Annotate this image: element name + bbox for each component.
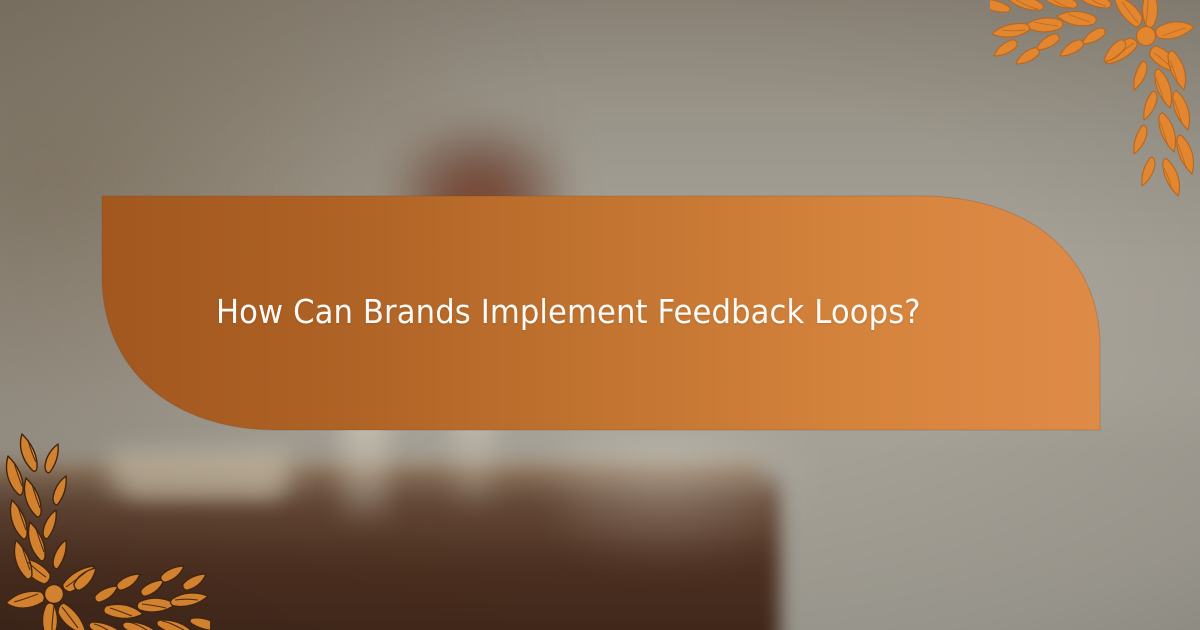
page-title: How Can Brands Implement Feedback Loops? [216,292,960,331]
title-banner: How Can Brands Implement Feedback Loops? [102,196,1100,430]
damask-corner-top-right-icon [990,0,1200,200]
damask-corner-bottom-left-icon [0,430,210,630]
header-card: How Can Brands Implement Feedback Loops? [0,0,1200,630]
